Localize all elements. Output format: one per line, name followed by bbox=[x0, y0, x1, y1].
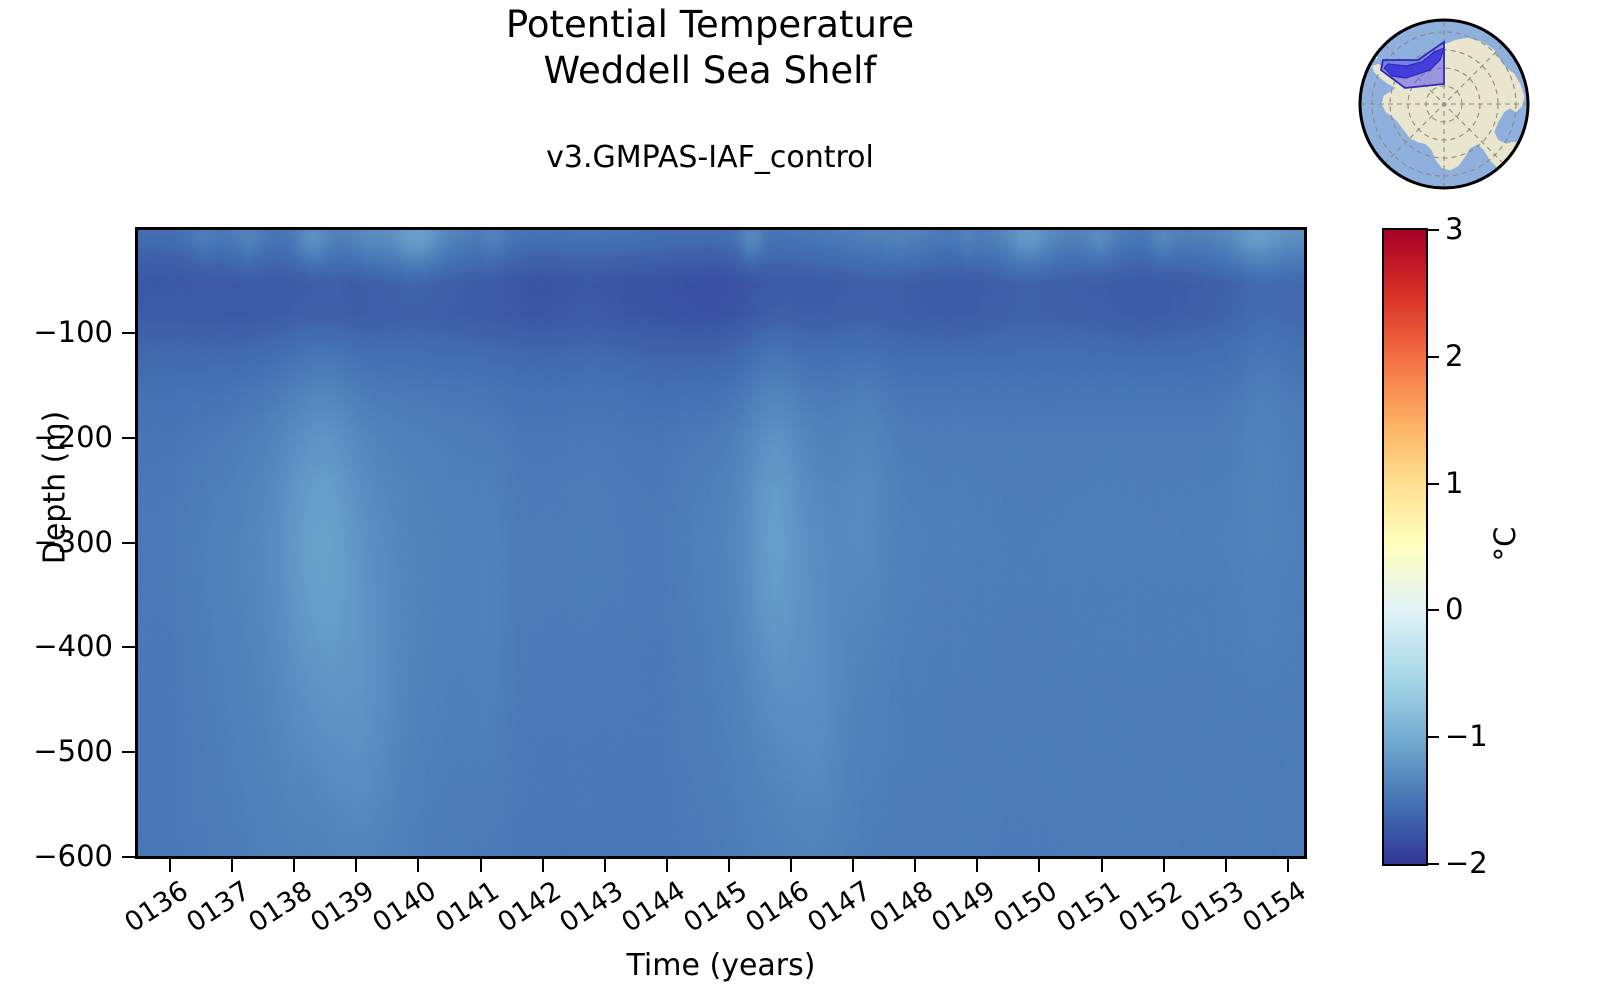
x-tick-mark bbox=[169, 859, 171, 872]
colorbar-tick-label: 3 bbox=[1445, 215, 1463, 244]
title-line-1: Potential Temperature bbox=[0, 2, 1420, 48]
x-tick-mark bbox=[1101, 859, 1103, 872]
colorbar bbox=[1382, 228, 1428, 866]
map-contents bbox=[1352, 12, 1536, 196]
x-tick-mark bbox=[1163, 859, 1165, 872]
colorbar-tick-mark bbox=[1428, 483, 1439, 485]
x-tick-mark bbox=[852, 859, 854, 872]
colorbar-tick-mark bbox=[1428, 356, 1439, 358]
y-tick-mark bbox=[122, 332, 135, 334]
y-tick-label: −300 bbox=[33, 528, 113, 557]
colorbar-tick-label: −1 bbox=[1445, 722, 1488, 751]
temperature-heatmap bbox=[138, 230, 1304, 856]
y-axis-label: Depth (m) bbox=[38, 338, 73, 638]
colorbar-tick-mark bbox=[1428, 736, 1439, 738]
title-line-2: Weddell Sea Shelf bbox=[0, 48, 1420, 94]
y-tick-label: −600 bbox=[33, 842, 113, 871]
y-tick-label: −500 bbox=[33, 737, 113, 766]
x-tick-mark bbox=[1225, 859, 1227, 872]
y-tick-label: −100 bbox=[33, 318, 113, 347]
x-tick-mark bbox=[604, 859, 606, 872]
x-tick-mark bbox=[914, 859, 916, 872]
figure-title: Potential Temperature Weddell Sea Shelf bbox=[0, 2, 1420, 94]
colorbar-gradient bbox=[1382, 228, 1428, 866]
colorbar-tick-label: 1 bbox=[1445, 469, 1463, 498]
colorbar-tick-label: 2 bbox=[1445, 342, 1463, 371]
x-tick-mark bbox=[355, 859, 357, 872]
small-island bbox=[1494, 176, 1500, 182]
y-tick-mark bbox=[122, 646, 135, 648]
colorbar-tick-mark bbox=[1428, 229, 1439, 231]
hovmoller-plot-area bbox=[135, 227, 1307, 859]
y-tick-mark bbox=[122, 437, 135, 439]
x-tick-mark bbox=[1038, 859, 1040, 872]
y-tick-label: −400 bbox=[33, 632, 113, 661]
y-tick-mark bbox=[122, 856, 135, 858]
x-tick-mark bbox=[293, 859, 295, 872]
colorbar-units-label: °C bbox=[1488, 464, 1522, 624]
colorbar-tick-mark bbox=[1428, 863, 1439, 865]
x-tick-mark bbox=[790, 859, 792, 872]
colorbar-tick-label: 0 bbox=[1445, 595, 1463, 624]
x-tick-mark bbox=[666, 859, 668, 872]
x-tick-mark bbox=[1287, 859, 1289, 872]
y-tick-label: −200 bbox=[33, 423, 113, 452]
figure-subtitle: v3.GMPAS-IAF_control bbox=[0, 140, 1420, 176]
x-tick-mark bbox=[417, 859, 419, 872]
graticule-longitudes bbox=[1352, 12, 1536, 196]
x-tick-mark bbox=[976, 859, 978, 872]
x-tick-mark bbox=[542, 859, 544, 872]
y-tick-mark bbox=[122, 542, 135, 544]
x-tick-mark bbox=[231, 859, 233, 872]
y-tick-mark bbox=[122, 751, 135, 753]
x-tick-mark bbox=[480, 859, 482, 872]
antarctica-locator-map bbox=[1348, 8, 1540, 200]
colorbar-tick-label: −2 bbox=[1445, 849, 1488, 878]
colorbar-tick-mark bbox=[1428, 609, 1439, 611]
x-tick-mark bbox=[728, 859, 730, 872]
